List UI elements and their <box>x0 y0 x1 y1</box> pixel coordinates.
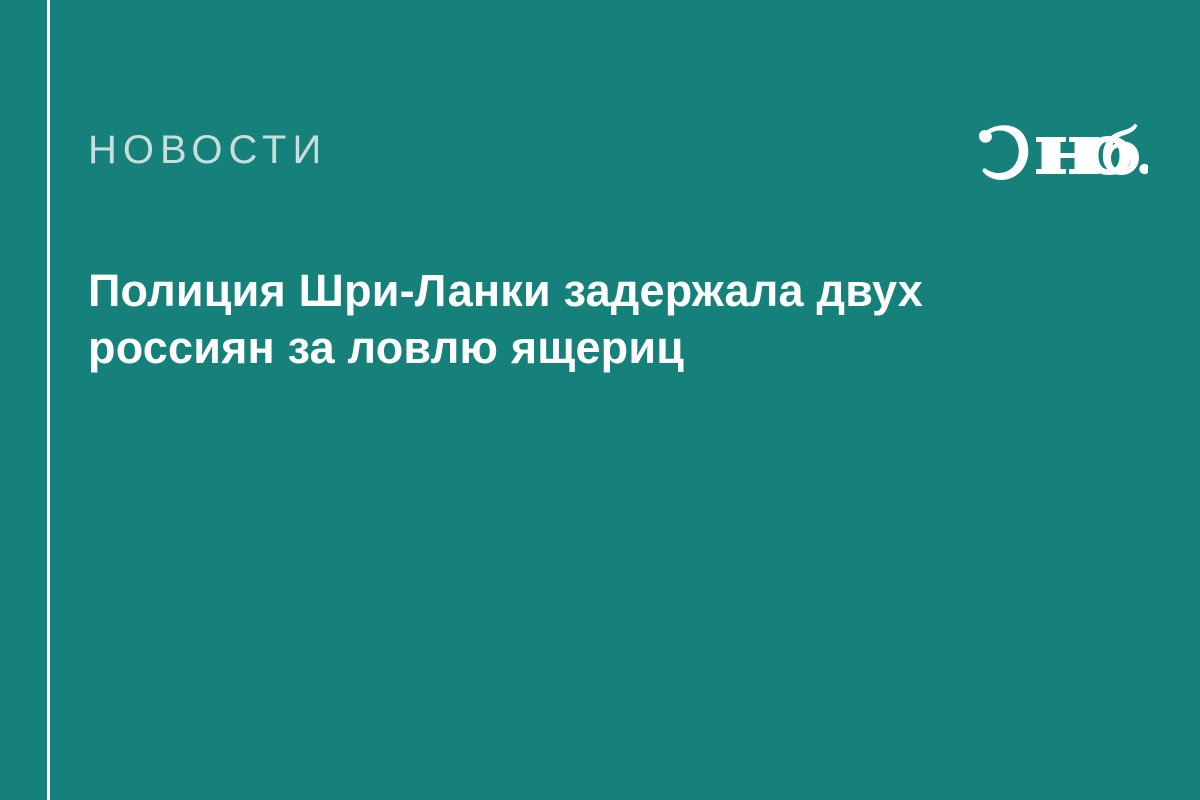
brand-logo[interactable] <box>966 112 1148 192</box>
snob-wordmark-icon <box>966 121 1148 183</box>
section-kicker: НОВОСТИ <box>88 126 327 174</box>
news-card: НОВОСТИ <box>0 0 1200 800</box>
article-headline: Полиция Шри-Ланки задержала двух россиян… <box>88 262 1028 376</box>
card-content: НОВОСТИ <box>88 0 1148 800</box>
card-header: НОВОСТИ <box>88 126 1148 186</box>
left-accent-rule <box>47 0 50 800</box>
